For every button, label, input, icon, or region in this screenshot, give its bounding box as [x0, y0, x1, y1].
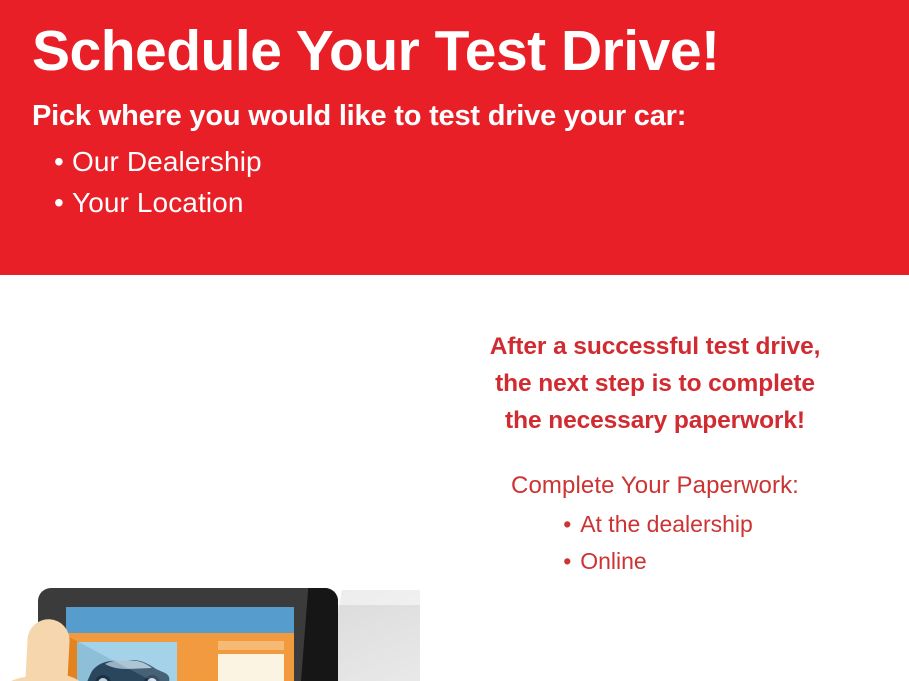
car-icon	[77, 642, 177, 681]
app-content	[66, 633, 294, 681]
list-item[interactable]: •Your Location	[54, 182, 909, 223]
banner-options-list: •Our Dealership •Your Location	[32, 141, 909, 224]
paperwork-option-label: Online	[580, 548, 646, 574]
poster-page: Schedule Your Test Drive! Pick where you…	[0, 0, 909, 681]
paperwork-text-block: After a successful test drive, the next …	[418, 328, 892, 580]
banner-option-label: Your Location	[72, 187, 244, 218]
paperwork-headline: After a successful test drive, the next …	[418, 328, 892, 440]
lower-section: After a successful test drive, the next …	[0, 275, 909, 681]
tablet-bezel-shadow	[290, 588, 338, 681]
paperwork-option-label: At the dealership	[580, 511, 753, 537]
banner-subtitle: Pick where you would like to test drive …	[32, 100, 909, 133]
paperwork-options-list: •At the dealership •Online	[557, 506, 753, 581]
bullet-icon: •	[563, 543, 580, 580]
app-topbar	[66, 607, 294, 633]
list-item[interactable]: •At the dealership	[563, 506, 753, 543]
panel-image-box[interactable]	[218, 654, 284, 681]
car-preview-image[interactable]	[77, 642, 177, 681]
red-banner: Schedule Your Test Drive! Pick where you…	[0, 0, 909, 275]
tablet-device[interactable]	[38, 588, 338, 681]
panel-header-bar	[218, 641, 284, 650]
headline-line: After a successful test drive,	[418, 328, 892, 365]
list-item[interactable]: •Our Dealership	[54, 141, 909, 182]
headline-line: the necessary paperwork!	[418, 402, 892, 439]
list-item[interactable]: •Online	[563, 543, 753, 580]
banner-option-label: Our Dealership	[72, 146, 262, 177]
bullet-icon: •	[563, 506, 580, 543]
banner-title: Schedule Your Test Drive!	[32, 22, 909, 82]
bullet-icon: •	[54, 141, 72, 182]
tablet-screen[interactable]	[66, 607, 294, 681]
tablet-illustration	[0, 550, 420, 681]
sidebar-panel	[218, 641, 284, 681]
paperwork-subheading: Complete Your Paperwork:	[418, 472, 892, 500]
bullet-icon: •	[54, 182, 72, 223]
headline-line: the next step is to complete	[418, 365, 892, 402]
left-thumb	[22, 618, 71, 681]
